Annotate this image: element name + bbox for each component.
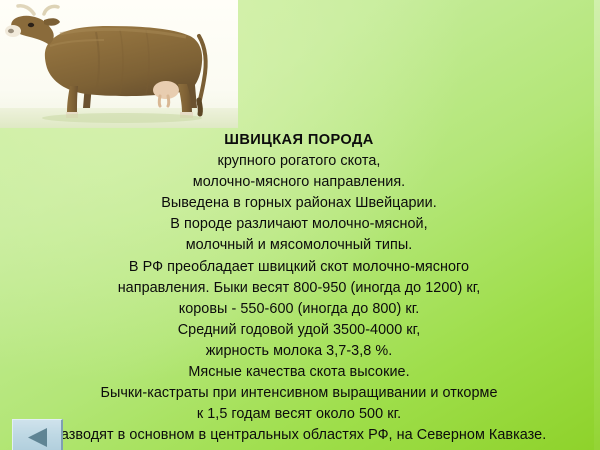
body-line-6: В РФ преобладает швицкий скот молочно-мя… — [0, 257, 598, 278]
body-line-9: Средний годовой удой 3500-4000 кг, — [0, 320, 598, 341]
body-line-2: молочно-мясного направления. — [0, 172, 598, 193]
body-line-11: Мясные качества скота высокие. — [0, 362, 598, 383]
body-line-3: Выведена в горных районах Швейцарии. — [0, 193, 598, 214]
triangle-left-icon — [25, 427, 49, 448]
brown-swiss-cow-photo — [0, 0, 238, 128]
body-line-10: жирность молока 3,7-3,8 %. — [0, 341, 598, 362]
previous-slide-button[interactable] — [12, 419, 63, 450]
body-line-13: к 1,5 годам весят около 500 кг. — [0, 404, 598, 425]
body-line-1: крупного рогатого скота, — [0, 151, 598, 172]
body-line-4: В породе различают молочно-мясной, — [0, 214, 598, 235]
slide-title: ШВИЦКАЯ ПОРОДА — [0, 130, 598, 151]
body-line-5: молочный и мясомолочный типы. — [0, 235, 598, 256]
body-line-8: коровы - 550-600 (иногда до 800) кг. — [0, 299, 598, 320]
presentation-slide: ШВИЦКАЯ ПОРОДА крупного рогатого скота, … — [0, 0, 600, 450]
body-line-7: направления. Быки весят 800-950 (иногда … — [0, 278, 598, 299]
cow-photo-frame — [0, 0, 238, 128]
slide-text-block: ШВИЦКАЯ ПОРОДА крупного рогатого скота, … — [0, 130, 598, 446]
body-line-12: Бычки-кастраты при интенсивном выращиван… — [0, 383, 598, 404]
body-line-14: Разводят в основном в центральных област… — [0, 425, 598, 446]
